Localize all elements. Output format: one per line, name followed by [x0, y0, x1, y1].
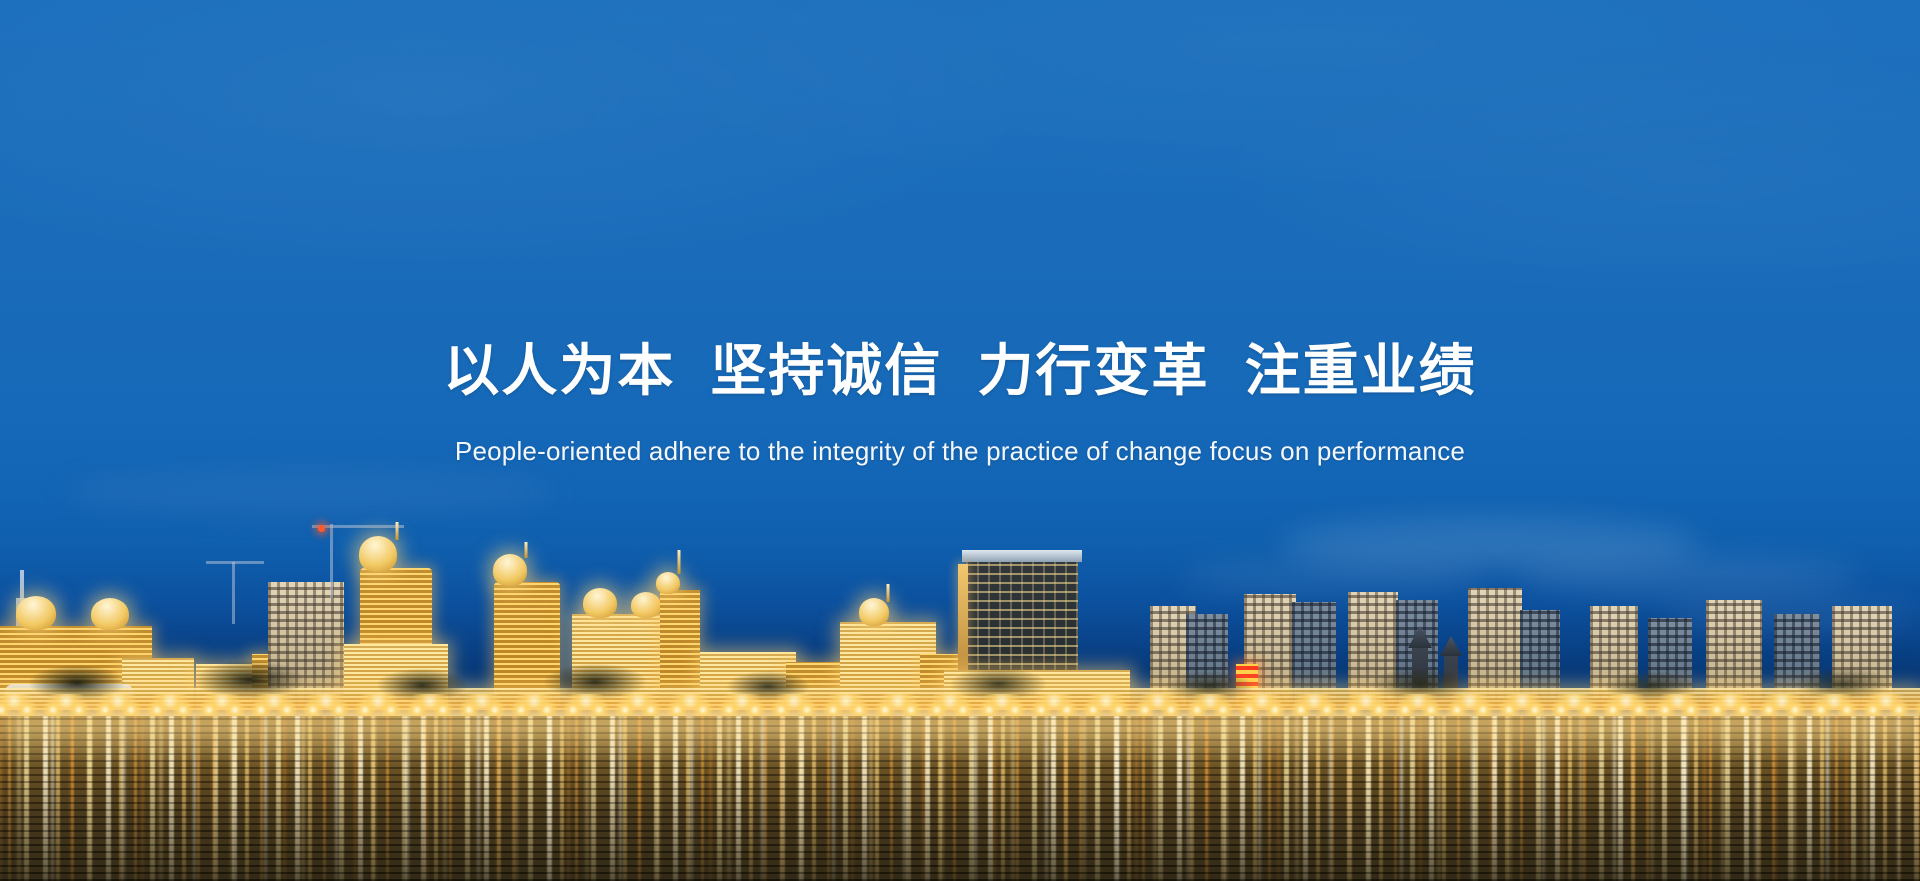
banner-headline: 以人为本 坚持诚信 力行变革 注重业绩	[0, 340, 1920, 402]
building-dome	[91, 598, 129, 630]
construction-crane	[330, 524, 333, 598]
building-dome	[493, 554, 527, 586]
building-spire	[396, 522, 399, 540]
building-dome	[631, 592, 661, 618]
building-spire	[887, 584, 890, 602]
hero-banner: 以人为本 坚持诚信 力行变革 注重业绩 People-oriented adhe…	[0, 0, 1920, 881]
building-dome	[859, 598, 889, 626]
building-dome	[583, 588, 617, 618]
construction-crane	[232, 562, 235, 624]
building-dark-highrise-cap	[962, 550, 1082, 562]
banner-copy: 以人为本 坚持诚信 力行变革 注重业绩 People-oriented adhe…	[0, 340, 1920, 467]
water-surface	[0, 716, 1920, 881]
banner-subline: People-oriented adhere to the integrity …	[0, 435, 1920, 467]
water-horizon-glow	[0, 716, 1920, 764]
cloud-shape	[60, 470, 560, 514]
building-spire	[525, 542, 528, 558]
building-dome	[359, 536, 397, 572]
building-dome	[16, 596, 56, 630]
crane-beacon-light	[318, 525, 325, 532]
building-dome	[656, 572, 680, 594]
building-spire	[678, 550, 681, 574]
construction-crane-arm	[312, 525, 404, 528]
construction-crane-arm	[206, 561, 264, 564]
